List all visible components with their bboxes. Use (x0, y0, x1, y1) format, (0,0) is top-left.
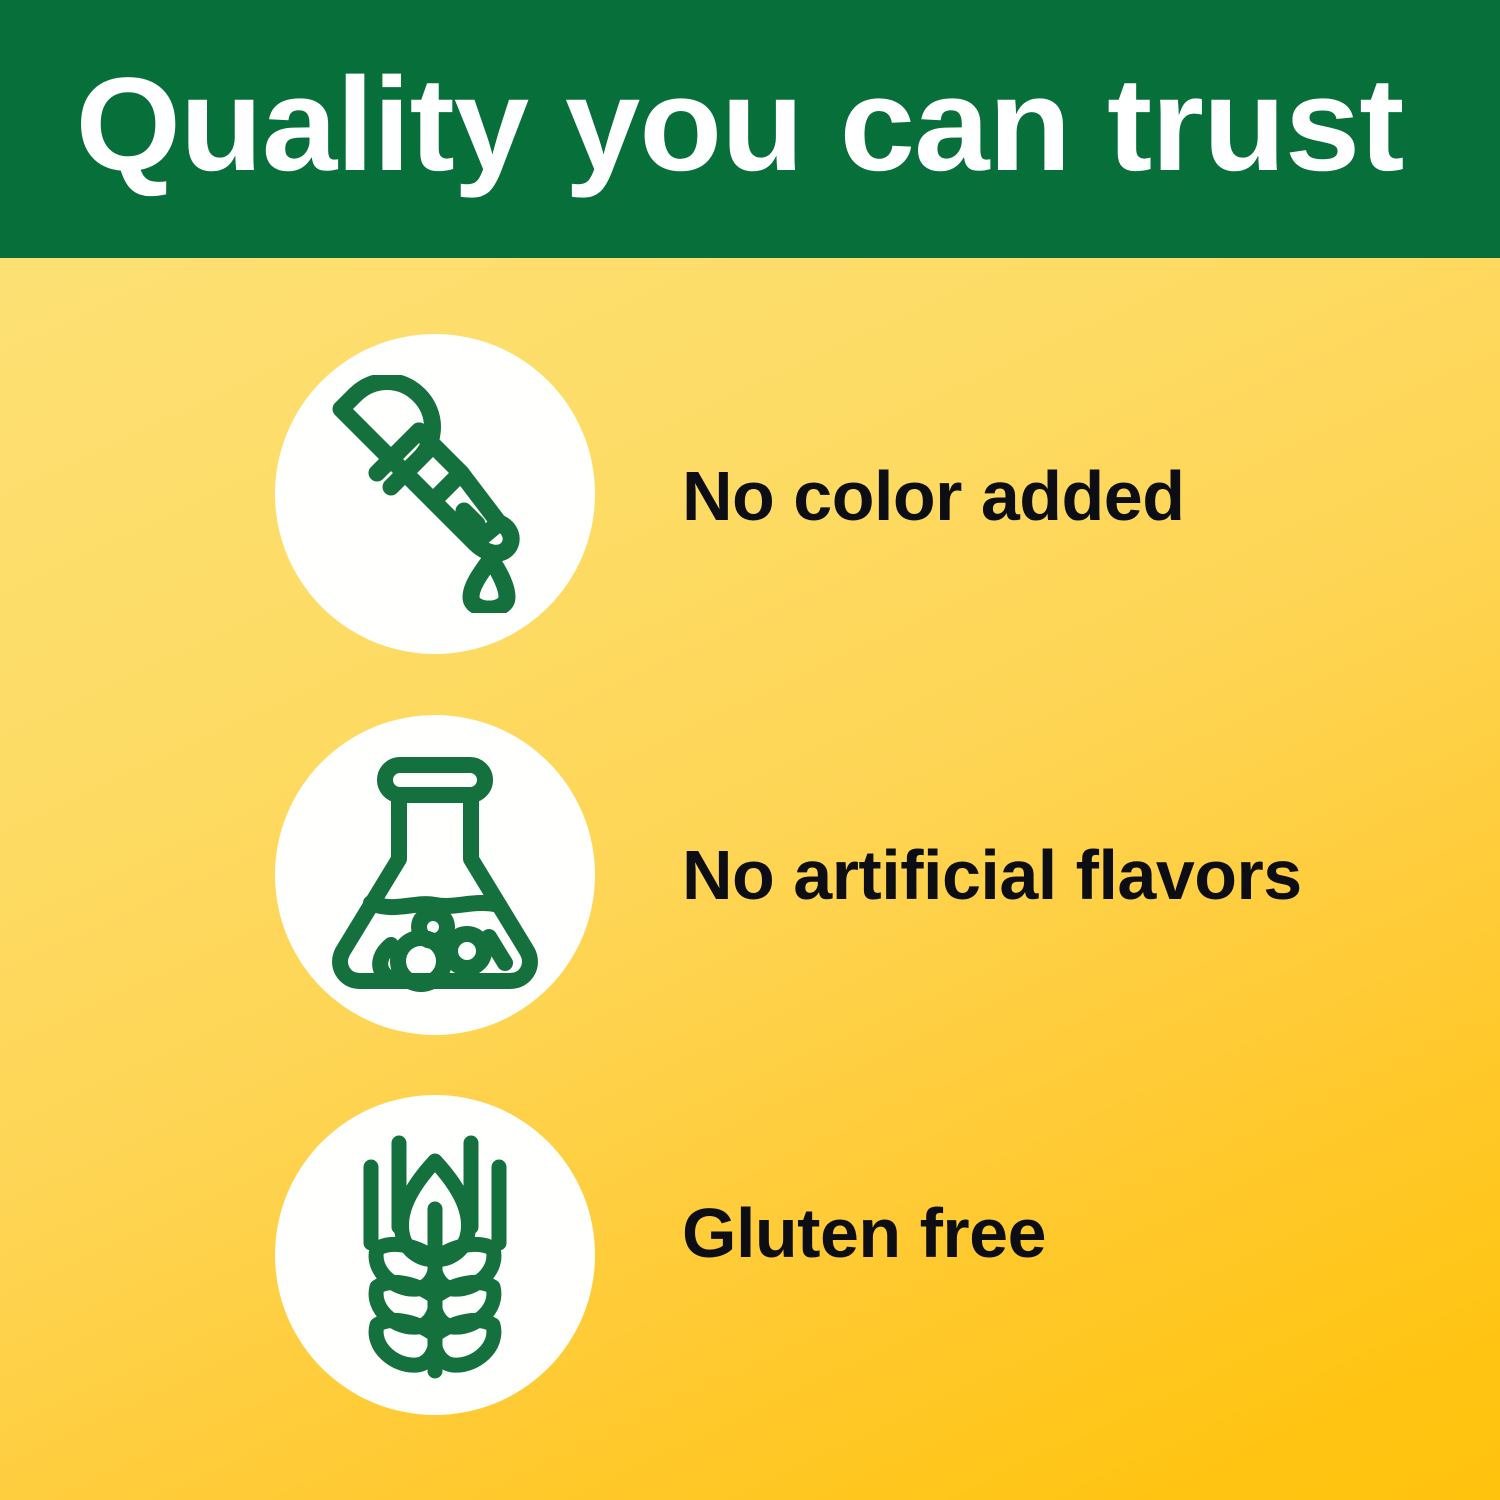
feature-label: Gluten free (682, 1198, 1046, 1268)
quality-claims-graphic: Quality you can trust (0, 0, 1500, 1500)
header-banner: Quality you can trust (0, 0, 1500, 258)
page-title: Quality you can trust (0, 59, 1403, 192)
flask-icon (329, 755, 541, 995)
feature-row: No artificial flavors (275, 715, 1302, 1035)
dropper-icon (321, 375, 549, 613)
icon-circle (275, 1095, 595, 1415)
icon-circle (275, 334, 595, 654)
feature-label: No artificial flavors (682, 840, 1302, 910)
feature-label: No color added (682, 461, 1184, 531)
feature-row: No color added (275, 334, 1184, 654)
icon-circle (275, 715, 595, 1035)
wheat-icon (343, 1131, 527, 1379)
feature-row: Gluten free (275, 1095, 1046, 1415)
